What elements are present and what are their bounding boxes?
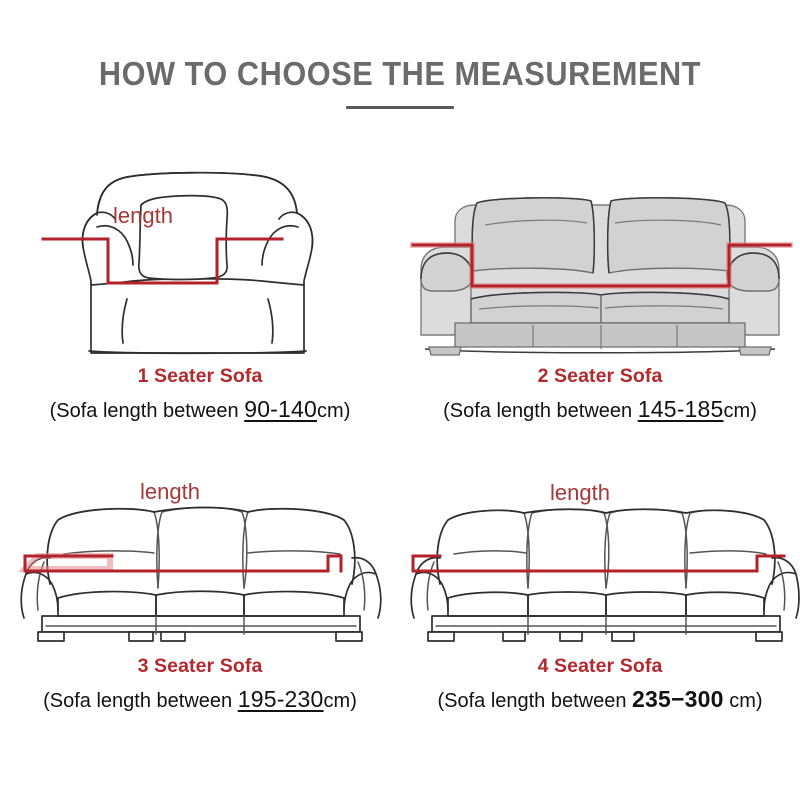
length-note-4: (Sofa length between 235−300 cm) bbox=[400, 684, 800, 716]
page-title: HOW TO CHOOSE THE MEASUREMENT bbox=[28, 54, 772, 94]
three-seater-line-drawing bbox=[14, 498, 386, 648]
seater-label-4: 4 Seater Sofa bbox=[400, 654, 800, 678]
note-prefix-1: (Sofa length between bbox=[50, 400, 245, 422]
note-suffix-3: ) bbox=[350, 690, 357, 712]
sofa-card-2-seater: 2 Seater Sofa (Sofa length between 145-1… bbox=[400, 140, 800, 430]
sofa-card-4-seater: length 4 Seater Sofa (Sofa length betwee… bbox=[400, 430, 800, 720]
length-note-3: (Sofa length between 195-230cm) bbox=[0, 684, 400, 716]
length-note-2: (Sofa length between 145-185cm) bbox=[400, 394, 800, 426]
sofa-card-3-seater: length 3 Seater Sofa (Sofa length betwee… bbox=[0, 430, 400, 720]
unit-3: cm bbox=[324, 690, 351, 712]
length-note-1: (Sofa length between 90-140cm) bbox=[0, 394, 400, 426]
sofa-size-grid: length 1 Seater Sofa (Sofa length betwee… bbox=[0, 140, 800, 740]
sofa-card-1-seater: length 1 Seater Sofa (Sofa length betwee… bbox=[0, 140, 400, 430]
caption-3-seater: 3 Seater Sofa (Sofa length between 195-2… bbox=[0, 654, 400, 716]
range-value-4: 235−300 bbox=[632, 686, 724, 712]
note-suffix-4: ) bbox=[756, 690, 763, 712]
range-value-2: 145-185 bbox=[638, 396, 724, 422]
seater-label-1: 1 Seater Sofa bbox=[0, 364, 400, 388]
sofa-illustration-1-seater bbox=[0, 140, 400, 358]
page-header: HOW TO CHOOSE THE MEASUREMENT bbox=[0, 54, 800, 109]
four-seater-line-drawing bbox=[400, 498, 800, 648]
two-seater-photo-sofa bbox=[415, 163, 785, 358]
note-prefix-4: (Sofa length between bbox=[437, 690, 632, 712]
seater-label-3: 3 Seater Sofa bbox=[0, 654, 400, 678]
measurement-guide-page: HOW TO CHOOSE THE MEASUREMENT bbox=[0, 0, 800, 800]
unit-1: cm bbox=[317, 400, 344, 422]
sofa-illustration-4-seater bbox=[400, 430, 800, 648]
unit-2: cm bbox=[724, 400, 751, 422]
title-divider bbox=[346, 106, 454, 109]
sofa-illustration-3-seater bbox=[0, 430, 400, 648]
note-prefix-3: (Sofa length between bbox=[43, 690, 238, 712]
range-value-3: 195-230 bbox=[238, 686, 324, 712]
note-suffix-1: ) bbox=[344, 400, 351, 422]
seater-label-2: 2 Seater Sofa bbox=[400, 364, 800, 388]
unit-4: cm bbox=[724, 690, 756, 712]
range-value-1: 90-140 bbox=[244, 396, 317, 422]
caption-1-seater: 1 Seater Sofa (Sofa length between 90-14… bbox=[0, 364, 400, 426]
caption-4-seater: 4 Seater Sofa (Sofa length between 235−3… bbox=[400, 654, 800, 716]
sofa-illustration-2-seater bbox=[400, 140, 800, 358]
caption-2-seater: 2 Seater Sofa (Sofa length between 145-1… bbox=[400, 364, 800, 426]
note-suffix-2: ) bbox=[750, 400, 757, 422]
note-prefix-2: (Sofa length between bbox=[443, 400, 638, 422]
armchair-line-drawing bbox=[55, 153, 345, 358]
